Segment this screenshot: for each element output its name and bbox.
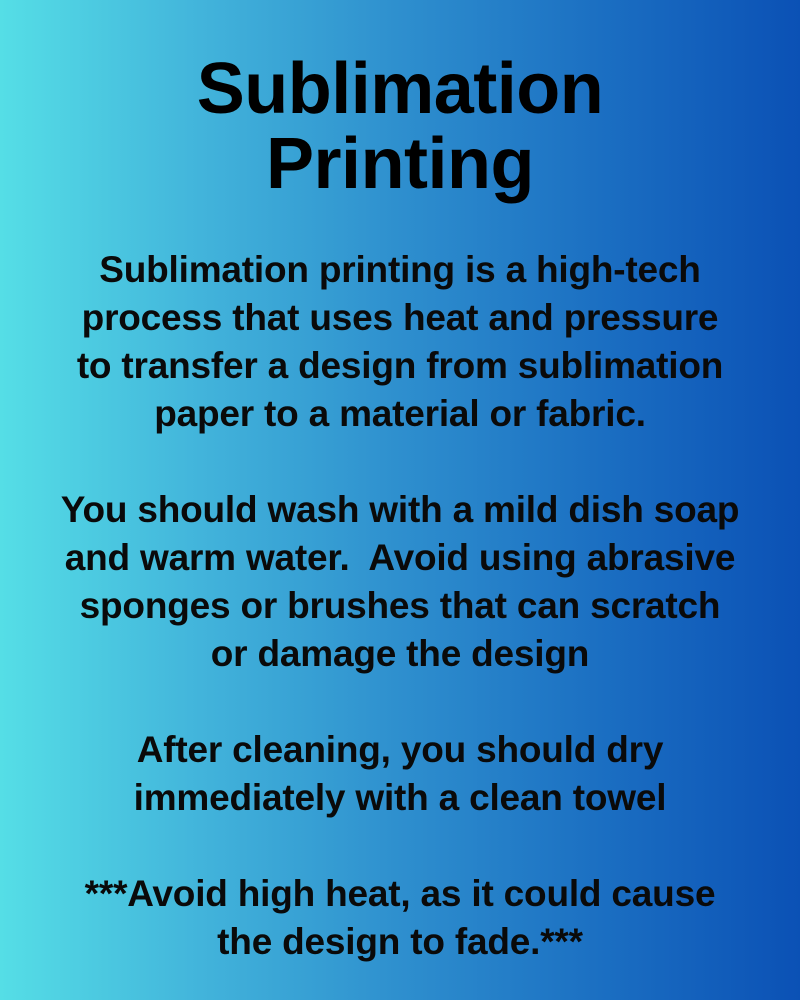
paragraph-drying-instructions: After cleaning, you should dry immediate… <box>60 726 740 822</box>
paragraph-what-is-sublimation: Sublimation printing is a high-tech proc… <box>60 246 740 438</box>
poster-canvas: Sublimation Printing Sublimation printin… <box>0 0 800 1000</box>
page-title: Sublimation Printing <box>60 52 740 202</box>
poster-content: Sublimation Printing Sublimation printin… <box>0 0 800 966</box>
page-title-line-1: Sublimation <box>60 52 740 127</box>
paragraph-spacer-3 <box>60 822 740 870</box>
page-title-line-2: Printing <box>60 127 740 202</box>
title-spacer <box>60 202 740 246</box>
paragraph-spacer-1 <box>60 438 740 486</box>
paragraph-heat-warning: ***Avoid high heat, as it could cause th… <box>60 870 740 966</box>
paragraph-spacer-2 <box>60 678 740 726</box>
paragraph-washing-instructions: You should wash with a mild dish soap an… <box>60 486 740 678</box>
